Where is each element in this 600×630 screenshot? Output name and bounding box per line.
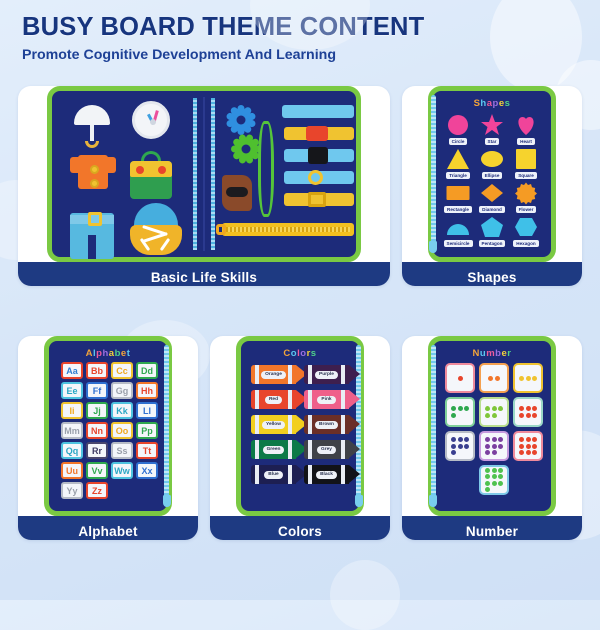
shapes-grid: CircleStarHeartTriangleEllipseSquareRect… bbox=[433, 109, 551, 247]
crayon-label: Blue bbox=[264, 471, 282, 479]
green-apple-icon bbox=[464, 406, 469, 411]
alphabet-photo: Alphabet AaBbCcDdEeFfGgHhIiJjKkLlMmNnOoP… bbox=[18, 336, 198, 516]
strawberry-icon bbox=[532, 437, 537, 442]
cherry-icon bbox=[526, 406, 531, 411]
green-grape-icon bbox=[485, 468, 490, 473]
square-icon bbox=[514, 147, 538, 171]
crayon-tip bbox=[349, 390, 360, 408]
shape-cell[interactable]: Semicircle bbox=[442, 215, 474, 247]
pentagon-icon bbox=[480, 215, 504, 239]
shape-cell[interactable]: Star bbox=[476, 113, 508, 145]
shape-label: Flower bbox=[516, 206, 537, 213]
shape-label: Diamond bbox=[479, 206, 505, 213]
pear-icon bbox=[498, 406, 503, 411]
crayon-tip bbox=[349, 365, 360, 383]
headband-snap-icon bbox=[282, 105, 354, 118]
green-apple-icon bbox=[458, 406, 463, 411]
number-board-title: Number bbox=[433, 341, 551, 359]
number-tile-1[interactable] bbox=[445, 363, 475, 393]
crayon-tip bbox=[349, 440, 360, 458]
grape-icon bbox=[492, 437, 497, 442]
alphabet-tile[interactable]: Xx bbox=[136, 462, 158, 479]
shapes-photo: Shapes CircleStarHeartTriangleEllipseSqu… bbox=[402, 86, 582, 262]
alphabet-tile[interactable]: Gg bbox=[111, 382, 133, 399]
green-grape-icon bbox=[498, 474, 503, 479]
blueberry-icon bbox=[464, 444, 469, 449]
alphabet-board-title: Alphabet bbox=[49, 341, 167, 359]
fruit-pips bbox=[451, 437, 469, 455]
pear-icon bbox=[485, 413, 490, 418]
alphabet-tile[interactable]: Yy bbox=[61, 482, 83, 499]
shapes-board-title: Shapes bbox=[433, 91, 551, 109]
crayon[interactable]: Yellow bbox=[251, 415, 296, 434]
alphabet-tile[interactable]: Vv bbox=[86, 462, 108, 479]
blueberry-icon bbox=[451, 444, 456, 449]
grape-icon bbox=[492, 444, 497, 449]
number-tile-4[interactable] bbox=[445, 397, 475, 427]
green-grape-icon bbox=[485, 481, 490, 486]
circle-icon bbox=[446, 113, 470, 137]
shape-label: Circle bbox=[449, 138, 468, 145]
diamond-icon bbox=[480, 181, 504, 205]
umbrella-icon bbox=[74, 105, 110, 145]
strawberry-icon bbox=[532, 450, 537, 455]
alphabet-tile[interactable]: Qq bbox=[61, 442, 83, 459]
shoe-laces-icon bbox=[128, 203, 184, 259]
card-number[interactable]: Number Number bbox=[402, 336, 582, 540]
shape-label: Star bbox=[485, 138, 500, 145]
colors-grid: OrangePurpleRedPinkYellowBrownGreenGreyB… bbox=[241, 359, 359, 484]
alphabet-tile[interactable]: Tt bbox=[136, 442, 158, 459]
number-tile-2[interactable] bbox=[479, 363, 509, 393]
shape-cell[interactable]: Diamond bbox=[476, 181, 508, 213]
card-shapes[interactable]: Shapes CircleStarHeartTriangleEllipseSqu… bbox=[402, 86, 582, 286]
fruit-pips bbox=[485, 437, 503, 455]
title-letter: S bbox=[474, 98, 481, 109]
card-alphabet[interactable]: Alphabet AaBbCcDdEeFfGgHhIiJjKkLlMmNnOoP… bbox=[18, 336, 198, 540]
shape-label: Hexagon bbox=[513, 240, 538, 247]
alphabet-tile[interactable]: Kk bbox=[111, 402, 133, 419]
card-colors[interactable]: Colors OrangePurpleRedPinkYellowBrownGre… bbox=[210, 336, 390, 540]
colors-board-title: Colors bbox=[241, 341, 359, 359]
alphabet-tile[interactable]: Aa bbox=[61, 362, 83, 379]
grape-icon bbox=[498, 444, 503, 449]
shape-label: Square bbox=[515, 172, 537, 179]
ring-gold-icon bbox=[308, 170, 323, 185]
bow-red-icon bbox=[306, 126, 328, 141]
heart-icon bbox=[514, 113, 538, 137]
colors-board: Colors OrangePurpleRedPinkYellowBrownGre… bbox=[236, 336, 364, 516]
shape-label: Rectangle bbox=[444, 206, 472, 213]
alphabet-tile[interactable]: Dd bbox=[136, 362, 158, 379]
crayon-label: Red bbox=[265, 396, 282, 404]
life-skills-photo bbox=[18, 86, 390, 262]
blueberry-icon bbox=[464, 437, 469, 442]
alphabet-tile[interactable]: Cc bbox=[111, 362, 133, 379]
crayon[interactable]: Black bbox=[304, 465, 349, 484]
shapes-board: Shapes CircleStarHeartTriangleEllipseSqu… bbox=[428, 86, 556, 262]
crayon[interactable]: Orange bbox=[251, 365, 296, 384]
crayon[interactable]: Red bbox=[251, 390, 296, 409]
title-letter: A bbox=[86, 348, 93, 359]
alphabet-tile[interactable]: Oo bbox=[111, 422, 133, 439]
shape-cell[interactable]: Heart bbox=[510, 113, 542, 145]
gear-blue-icon bbox=[224, 103, 258, 137]
orange-icon bbox=[488, 376, 493, 381]
colors-photo: Colors OrangePurpleRedPinkYellowBrownGre… bbox=[210, 336, 390, 516]
green-grape-icon bbox=[498, 468, 503, 473]
infographic-page: BUSY BOARD THEME CONTENT Promote Cogniti… bbox=[0, 0, 600, 600]
caption-alphabet: Alphabet bbox=[18, 516, 198, 540]
cherry-icon bbox=[519, 413, 524, 418]
square-clip-icon bbox=[308, 192, 326, 207]
alphabet-tile[interactable]: Nn bbox=[86, 422, 108, 439]
cherry-icon bbox=[526, 413, 531, 418]
number-tile-9[interactable] bbox=[513, 431, 543, 461]
strawberry-icon bbox=[519, 450, 524, 455]
pear-icon bbox=[485, 406, 490, 411]
strawberry-icon bbox=[532, 444, 537, 449]
clock-icon bbox=[132, 101, 170, 139]
number-photo: Number bbox=[402, 336, 582, 516]
cord-icon bbox=[258, 121, 274, 217]
number-tile-5[interactable] bbox=[479, 397, 509, 427]
shape-cell[interactable]: Ellipse bbox=[476, 147, 508, 179]
card-life-skills[interactable]: Basic Life Skills bbox=[18, 86, 390, 286]
number-grid bbox=[433, 359, 551, 495]
title-letter: s bbox=[505, 98, 511, 109]
crayon[interactable]: Green bbox=[251, 440, 296, 459]
alphabet-tile[interactable]: Ss bbox=[111, 442, 133, 459]
strawberry-icon bbox=[526, 450, 531, 455]
hexagon-icon bbox=[514, 215, 538, 239]
green-grape-icon bbox=[485, 474, 490, 479]
cherry-icon bbox=[532, 413, 537, 418]
green-grape-icon bbox=[492, 468, 497, 473]
crayon-label: Black bbox=[316, 471, 337, 479]
alphabet-tile[interactable]: Hh bbox=[136, 382, 158, 399]
backpack-icon bbox=[128, 151, 174, 199]
page-subtitle: Promote Cognitive Development And Learni… bbox=[22, 47, 600, 63]
number-tile-10[interactable] bbox=[479, 465, 509, 495]
crayon[interactable]: Purple bbox=[304, 365, 349, 384]
pear-icon bbox=[492, 413, 497, 418]
grape-icon bbox=[485, 437, 490, 442]
alphabet-tile[interactable]: Uu bbox=[61, 462, 83, 479]
caption-colors: Colors bbox=[210, 516, 390, 540]
alphabet-board: Alphabet AaBbCcDdEeFfGgHhIiJjKkLlMmNnOoP… bbox=[44, 336, 172, 516]
title-letter: N bbox=[473, 348, 480, 359]
card-row-top: Basic Life Skills Shapes CircleStarHeart… bbox=[18, 86, 582, 286]
strawberry-icon bbox=[519, 444, 524, 449]
alphabet-tile[interactable]: Mm bbox=[61, 422, 83, 439]
shape-cell[interactable]: Triangle bbox=[442, 147, 474, 179]
shape-cell[interactable]: Pentagon bbox=[476, 215, 508, 247]
title-letter: C bbox=[283, 348, 290, 359]
lemon-icon bbox=[519, 376, 524, 381]
shape-cell[interactable]: Circle bbox=[442, 113, 474, 145]
busy-board-open bbox=[47, 86, 361, 262]
title-letter: r bbox=[507, 348, 511, 359]
alphabet-tile[interactable]: Ii bbox=[61, 402, 83, 419]
rectangle-icon bbox=[446, 181, 470, 205]
crayon-label: Brown bbox=[315, 421, 338, 429]
crayon[interactable]: Blue bbox=[251, 465, 296, 484]
title-letter: m bbox=[486, 348, 495, 359]
shape-cell[interactable]: Hexagon bbox=[510, 215, 542, 247]
page-header: BUSY BOARD THEME CONTENT Promote Cogniti… bbox=[0, 0, 600, 63]
grape-icon bbox=[485, 450, 490, 455]
grape-icon bbox=[485, 444, 490, 449]
crayon-tip bbox=[349, 415, 360, 433]
alphabet-tile[interactable]: Ee bbox=[61, 382, 83, 399]
strawberry-icon bbox=[526, 437, 531, 442]
number-board: Number bbox=[428, 336, 556, 516]
pear-icon bbox=[492, 406, 497, 411]
shape-label: Semicircle bbox=[444, 240, 473, 247]
card-row-bottom: Alphabet AaBbCcDdEeFfGgHhIiJjKkLlMmNnOoP… bbox=[18, 336, 582, 540]
fruit-pips bbox=[488, 376, 500, 381]
lemon-icon bbox=[532, 376, 537, 381]
alphabet-tile[interactable]: Rr bbox=[86, 442, 108, 459]
number-tile-3[interactable] bbox=[513, 363, 543, 393]
alphabet-tile[interactable]: Bb bbox=[86, 362, 108, 379]
toggle-black-icon bbox=[226, 187, 248, 197]
crayon[interactable]: Pink bbox=[304, 390, 349, 409]
alphabet-tile[interactable]: Pp bbox=[136, 422, 158, 439]
shape-cell[interactable]: Flower bbox=[510, 181, 542, 213]
shape-label: Pentagon bbox=[479, 240, 506, 247]
lemon-icon bbox=[526, 376, 531, 381]
green-grape-icon bbox=[485, 487, 490, 492]
fruit-pips bbox=[451, 406, 469, 418]
caption-life-skills: Basic Life Skills bbox=[18, 262, 390, 286]
triangle-icon bbox=[446, 147, 470, 171]
zipper-icon bbox=[222, 223, 354, 236]
buckle-black-icon bbox=[308, 147, 328, 164]
zipper-pull-icon bbox=[216, 224, 226, 235]
blueberry-icon bbox=[458, 437, 463, 442]
strawberry-icon bbox=[519, 437, 524, 442]
number-tile-6[interactable] bbox=[513, 397, 543, 427]
fruit-pips bbox=[485, 468, 503, 493]
alphabet-tile[interactable]: Ll bbox=[136, 402, 158, 419]
crayon-label: Green bbox=[263, 446, 285, 454]
shape-label: Triangle bbox=[446, 172, 470, 179]
crayon-label: Orange bbox=[261, 371, 286, 379]
fruit-pips bbox=[458, 376, 463, 381]
semicircle-icon bbox=[446, 215, 470, 239]
shape-label: Ellipse bbox=[482, 172, 503, 179]
crayon-label: Pink bbox=[317, 396, 335, 404]
shape-cell[interactable]: Square bbox=[510, 147, 542, 179]
blueberry-icon bbox=[451, 450, 456, 455]
crayon[interactable]: Brown bbox=[304, 415, 349, 434]
title-letter: s bbox=[311, 348, 317, 359]
green-apple-icon bbox=[451, 413, 456, 418]
crayon-label: Grey bbox=[317, 446, 336, 454]
fruit-pips bbox=[519, 376, 537, 381]
fruit-pips bbox=[485, 406, 503, 418]
blueberry-icon bbox=[458, 444, 463, 449]
crayon[interactable]: Grey bbox=[304, 440, 349, 459]
alphabet-tile[interactable]: Ww bbox=[111, 462, 133, 479]
pants-belt-icon bbox=[66, 207, 118, 259]
star-icon bbox=[480, 113, 504, 137]
alphabet-tile[interactable]: Zz bbox=[86, 482, 108, 499]
apple-icon bbox=[458, 376, 463, 381]
flower-icon bbox=[514, 181, 538, 205]
shape-label: Heart bbox=[517, 138, 535, 145]
blueberry-icon bbox=[451, 437, 456, 442]
title-letter: t bbox=[127, 348, 131, 359]
green-grape-icon bbox=[492, 474, 497, 479]
orange-icon bbox=[495, 376, 500, 381]
grape-icon bbox=[492, 450, 497, 455]
number-tile-7[interactable] bbox=[445, 431, 475, 461]
number-tile-8[interactable] bbox=[479, 431, 509, 461]
green-apple-icon bbox=[451, 406, 456, 411]
alphabet-grid: AaBbCcDdEeFfGgHhIiJjKkLlMmNnOoPpQqRrSsTt… bbox=[49, 359, 167, 499]
caption-shapes: Shapes bbox=[402, 262, 582, 286]
grape-icon bbox=[498, 437, 503, 442]
shirt-buttons-icon bbox=[70, 155, 116, 197]
strawberry-icon bbox=[526, 444, 531, 449]
fruit-pips bbox=[519, 437, 537, 455]
alphabet-tile[interactable]: Ff bbox=[86, 382, 108, 399]
alphabet-tile[interactable]: Jj bbox=[86, 402, 108, 419]
crayon-tip bbox=[349, 465, 360, 483]
caption-number: Number bbox=[402, 516, 582, 540]
crayon-label: Yellow bbox=[262, 421, 285, 429]
fruit-pips bbox=[519, 406, 537, 418]
cherry-icon bbox=[532, 406, 537, 411]
ellipse-icon bbox=[480, 147, 504, 171]
green-grape-icon bbox=[498, 481, 503, 486]
page-title: BUSY BOARD THEME CONTENT bbox=[22, 14, 600, 42]
cherry-icon bbox=[519, 406, 524, 411]
shape-cell[interactable]: Rectangle bbox=[442, 181, 474, 213]
crayon-label: Purple bbox=[315, 371, 338, 379]
green-grape-icon bbox=[492, 481, 497, 486]
